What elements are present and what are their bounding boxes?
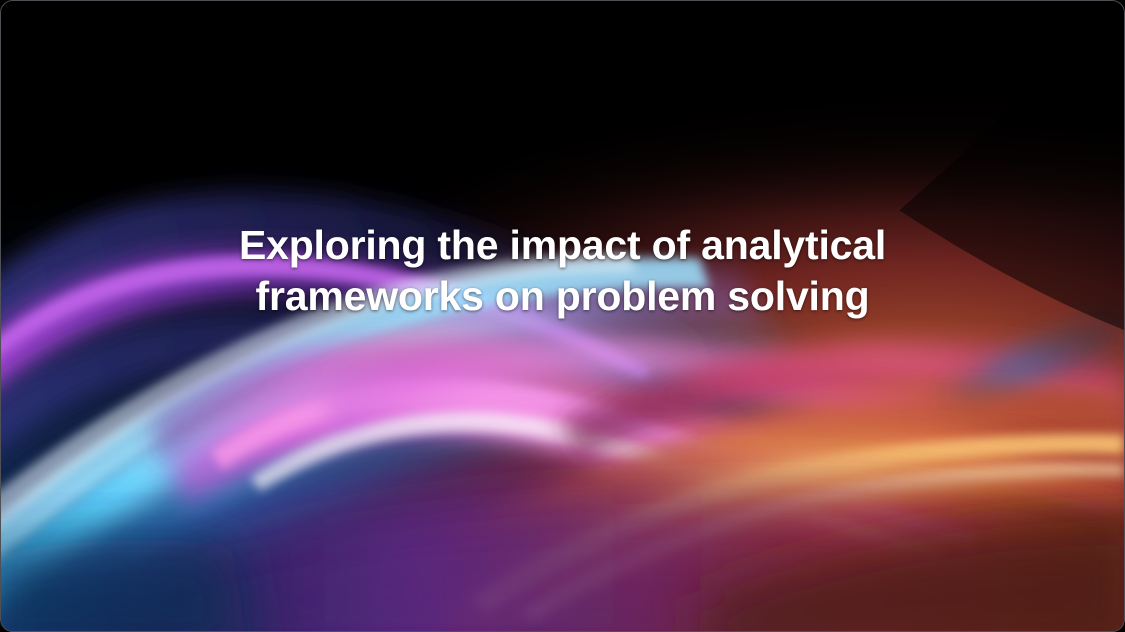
presentation-slide: Exploring the impact of analytical frame…: [0, 0, 1125, 632]
abstract-wave-background: [1, 1, 1124, 631]
